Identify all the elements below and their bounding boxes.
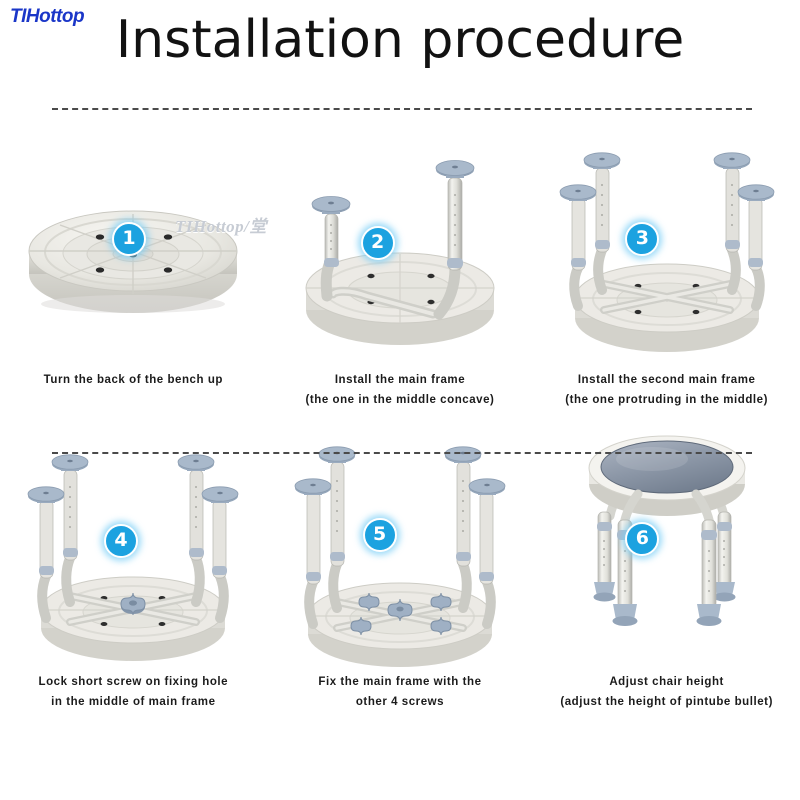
divider-top [52, 108, 752, 110]
step-badge-4: 4 [104, 524, 138, 558]
leg-back-left [584, 153, 620, 290]
leg-front-left [612, 494, 638, 626]
steps-row-bottom: 4 Lock short screw on fixing hole in the… [0, 422, 800, 712]
step-2-illustration [275, 118, 525, 368]
leg-back-right [714, 153, 750, 290]
step-6-illustration [542, 422, 792, 670]
step-5-caption-line2: other 4 screws [267, 692, 533, 712]
step-4-caption-line1: Lock short screw on fixing hole [39, 676, 229, 688]
step-5-caption: Fix the main frame with the other 4 scre… [267, 672, 533, 712]
seat-top [589, 436, 745, 516]
installation-procedure-page: TIHottop Installation procedure [0, 0, 800, 800]
leg-back-left [319, 447, 355, 608]
four-screws-locked-icon [275, 422, 525, 670]
divider-middle [52, 452, 752, 454]
finished-stool-icon [542, 422, 792, 670]
step-4-caption-line2: in the middle of main frame [0, 692, 266, 712]
page-title: Installation procedure [0, 14, 800, 66]
leg-back-right [445, 447, 481, 608]
step-6: 6 Adjust chair height (adjust the height… [533, 422, 800, 712]
step-2-caption-line1: Install the main frame [335, 374, 465, 386]
brand-logo: TIHottop [10, 6, 84, 28]
step-1: 1 Turn the back of the bench up [0, 118, 267, 410]
leg-back-right [178, 455, 214, 602]
step-6-caption-line1: Adjust chair height [609, 676, 724, 688]
steps-grid: 1 Turn the back of the bench up [0, 118, 800, 712]
step-badge-1: 1 [112, 222, 146, 256]
step-5: 5 Fix the main frame with the other 4 sc… [267, 422, 534, 712]
step-2: 2 Install the main frame (the one in the… [267, 118, 534, 410]
step-1-caption: Turn the back of the bench up [0, 370, 266, 390]
step-4: 4 Lock short screw on fixing hole in the… [0, 422, 267, 712]
step-6-caption-line2: (adjust the height of pintube bullet) [534, 692, 800, 712]
step-4-caption: Lock short screw on fixing hole in the m… [0, 672, 266, 712]
step-1-caption-line1: Turn the back of the bench up [44, 374, 223, 386]
step-3-caption: Install the second main frame (the one p… [534, 370, 800, 410]
step-2-caption-line2: (the one in the middle concave) [267, 390, 533, 410]
step-badge-2: 2 [361, 226, 395, 260]
step-3-illustration [542, 118, 792, 368]
step-6-caption: Adjust chair height (adjust the height o… [534, 672, 800, 712]
second-main-frame-icon [542, 118, 792, 368]
step-5-illustration [275, 422, 525, 670]
step-3-caption-line2: (the one protruding in the middle) [534, 390, 800, 410]
step-3-caption-line1: Install the second main frame [578, 374, 756, 386]
leg-back-left [52, 455, 88, 602]
image-watermark: TIHottop/堂 [175, 212, 267, 237]
first-main-frame-icon [275, 118, 525, 368]
step-badge-5: 5 [363, 518, 397, 552]
step-3: 3 Install the second main frame (the one… [533, 118, 800, 410]
steps-row-top: 1 Turn the back of the bench up [0, 118, 800, 410]
step-5-caption-line1: Fix the main frame with the [318, 676, 481, 688]
step-2-caption: Install the main frame (the one in the m… [267, 370, 533, 410]
